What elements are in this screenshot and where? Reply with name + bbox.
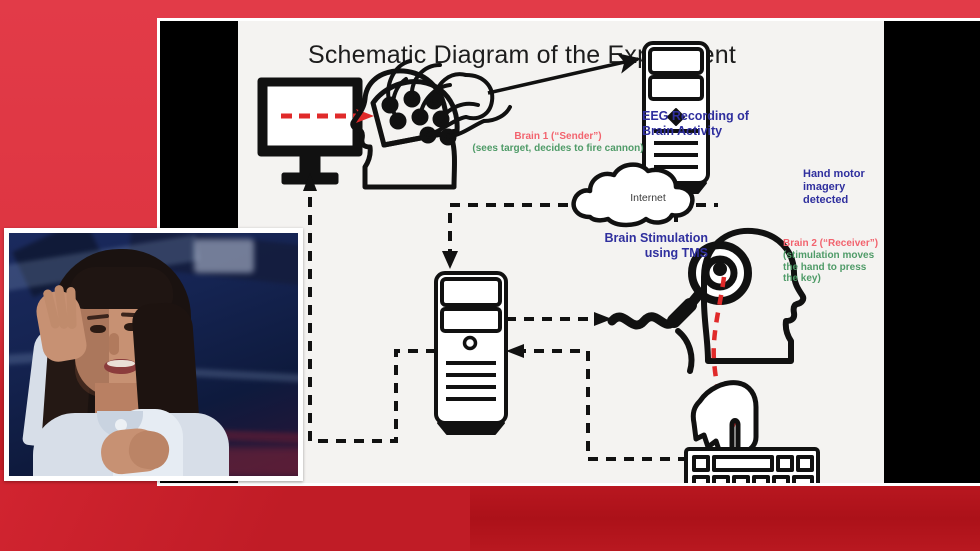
video-feed <box>9 233 298 476</box>
label-brain-2-receiver: Brain 2 (“Receiver”) (stimulation moves … <box>783 238 878 285</box>
presenter-finger <box>66 287 76 329</box>
computer-tower-icon-2 <box>436 273 506 434</box>
computer-monitor-icon <box>258 78 362 184</box>
broadcast-frame: Schematic Diagram of the Experiment <box>0 0 980 551</box>
schematic-diagram: EEG Recording of Brain Activity Hand mot… <box>238 21 884 483</box>
head-with-eeg-cap-icon <box>353 61 510 187</box>
presenter-nose <box>109 333 119 355</box>
presenter-video-inset <box>4 228 303 481</box>
presenter-eye <box>90 325 106 333</box>
tms-coil-icon <box>612 245 748 371</box>
label-brain-stimulation-tms: Brain Stimulation using TMS <box>568 231 708 261</box>
eeg-signal-arrow <box>488 59 638 93</box>
presenter-teeth <box>107 360 135 367</box>
keyboard-icon <box>686 449 818 483</box>
studio-backdrop-shape <box>194 239 254 273</box>
label-internet: Internet <box>618 192 678 204</box>
pillarbox-right <box>884 21 980 483</box>
label-brain-1-sender: Brain 1 (“Sender”) (sees target, decides… <box>438 131 678 155</box>
label-hand-motor-imagery: Hand motor imagery detected <box>803 168 865 207</box>
